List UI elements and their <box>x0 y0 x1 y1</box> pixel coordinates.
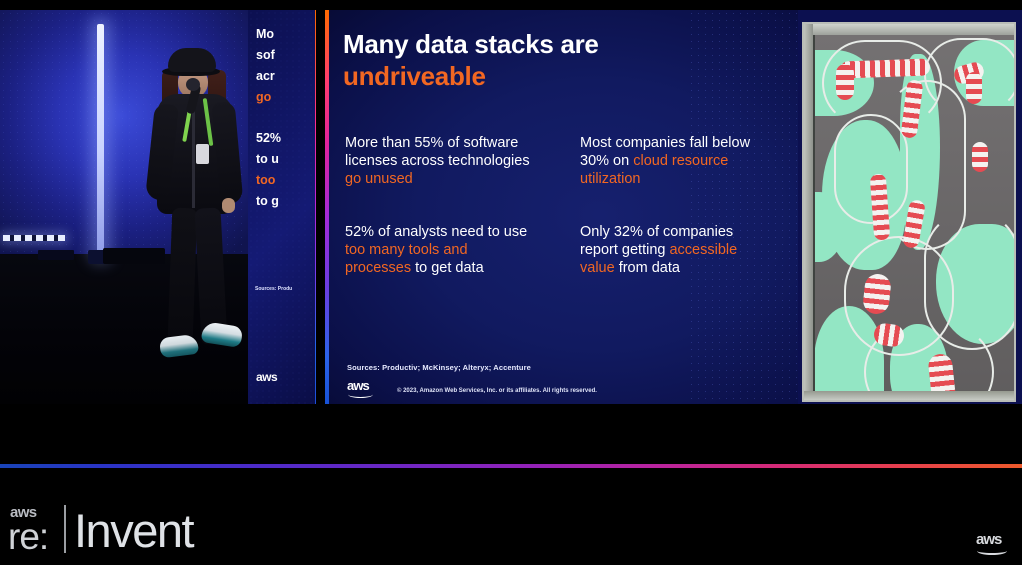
reinvent-aws-mark: aws re: <box>8 498 62 556</box>
reinvent-re-text: re: <box>8 518 48 555</box>
microphone-head <box>186 78 200 91</box>
presenter-cap <box>168 48 216 72</box>
stage-light-bar <box>97 24 104 256</box>
slide-copyright: © 2023, Amazon Web Services, Inc. or its… <box>397 388 597 396</box>
presenter-badge <box>196 144 209 164</box>
stage-screen-partial: Mo sof acr go 52% to u too to g Sources:… <box>248 10 320 404</box>
stage-equipment-box <box>38 250 74 260</box>
stage-screen-line-1: Mo <box>256 26 274 43</box>
track-guard-rail <box>813 35 815 391</box>
track-kerb-11 <box>972 142 988 172</box>
corner-aws-wordmark: aws <box>976 533 1010 546</box>
stage-screen-line-5: 52% <box>256 130 281 147</box>
stage-screen-aws-logo: aws <box>256 370 277 384</box>
stat-text: 52% of analysts need to use <box>345 224 527 240</box>
slide-sources: Sources: Productiv; McKinsey; Alteryx; A… <box>347 363 531 372</box>
stat-accessible-value: Only 32% of companies report getting acc… <box>580 223 765 277</box>
stage-led-strip <box>3 235 65 241</box>
corner-aws-smile-icon <box>977 547 1007 555</box>
aws-logo-wordmark: aws <box>347 380 375 391</box>
presenter-jacket-zipper <box>192 100 195 208</box>
stage-screen-line-8: to g <box>256 193 279 210</box>
stage-screen-line-4: go <box>256 89 271 106</box>
presenter-shoe-left <box>159 334 199 358</box>
reinvent-divider <box>64 505 66 553</box>
slide-gradient-edge <box>325 10 329 404</box>
stage-screen-line-6: to u <box>256 151 279 168</box>
aws-logo-icon: aws <box>347 380 375 396</box>
track-kerb-5 <box>966 72 982 104</box>
stat-analyst-tools: 52% of analysts need to use too many too… <box>345 223 530 277</box>
broadcast-frame: Mo sof acr go 52% to u too to g Sources:… <box>0 0 1022 565</box>
reinvent-logo: aws re: Invent <box>8 498 193 556</box>
track-top-barrier <box>804 24 1014 35</box>
camera-right-letterbox <box>316 10 320 404</box>
corner-aws-logo-icon: aws <box>976 533 1010 555</box>
track-kerb-2 <box>836 64 854 100</box>
stat-text: to get data <box>411 260 484 276</box>
stat-software-licenses: More than 55% of software licenses acros… <box>345 134 530 188</box>
slide-title-line-1: Many data stacks are <box>343 29 599 59</box>
slide-title-line-2: undriveable <box>343 60 763 92</box>
presenter-leg-left <box>168 208 198 341</box>
track-bottom-barrier <box>804 391 1014 400</box>
stat-accent-text: go unused <box>345 171 413 187</box>
stat-cloud-utilization: Most companies fall below 30% on cloud r… <box>580 134 765 188</box>
presenter-camera-feed: Mo sof acr go 52% to u too to g Sources:… <box>0 10 320 404</box>
stage-screen-line-3: acr <box>256 68 275 85</box>
track-aerial-view <box>802 22 1016 402</box>
track-left-barrier <box>804 24 813 400</box>
stage-screen-line-2: sof <box>256 47 275 64</box>
stat-text: More than 55% of software licenses acros… <box>345 135 530 169</box>
slide-stat-grid: More than 55% of software licenses acros… <box>345 134 775 312</box>
slide-footer: aws © 2023, Amazon Web Services, Inc. or… <box>347 380 597 396</box>
reinvent-invent-text: Invent <box>74 507 193 556</box>
gradient-divider <box>0 464 1022 468</box>
slide-title: Many data stacks are undriveable <box>343 28 763 92</box>
race-track-photo <box>798 10 1022 404</box>
presenter-hand-right <box>222 198 235 213</box>
aws-smile-icon <box>348 391 373 398</box>
stat-text: from data <box>615 260 680 276</box>
stage-screen-line-7: too <box>256 172 275 189</box>
presenter <box>140 48 250 378</box>
stage-screen-sources: Sources: Produ <box>255 286 292 292</box>
video-band: Mo sof acr go 52% to u too to g Sources:… <box>0 0 1022 410</box>
presentation-slide: Many data stacks are undriveable More th… <box>325 10 798 404</box>
